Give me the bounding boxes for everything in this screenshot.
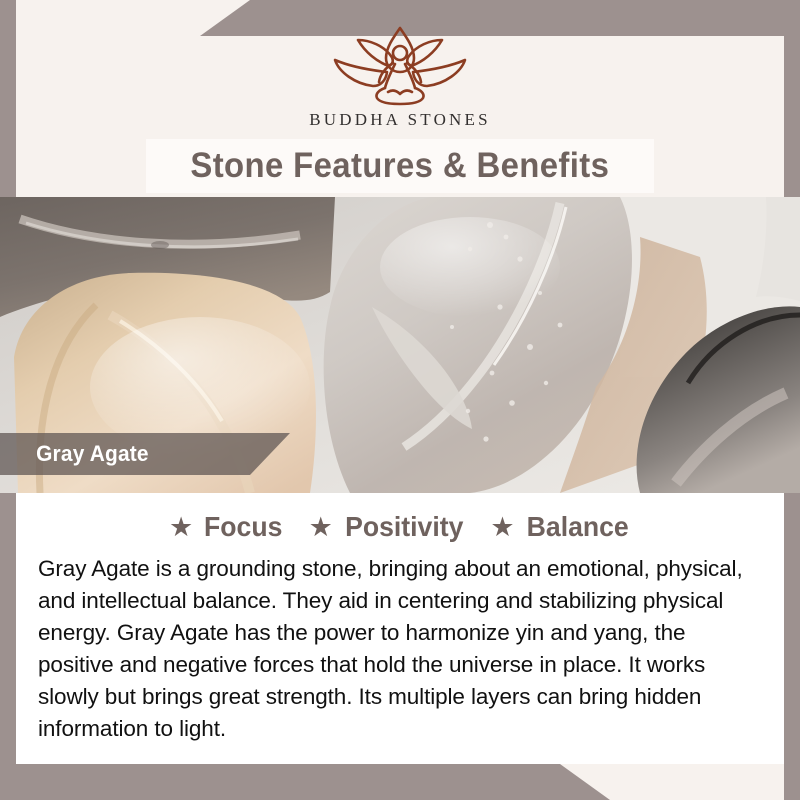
feature-list: ★ Focus ★ Positivity ★ Balance — [16, 493, 784, 543]
page-title: Stone Features & Benefits — [191, 146, 610, 186]
brand-logo: BUDDHA STONES — [16, 20, 784, 130]
brand-name: BUDDHA STONES — [309, 110, 491, 130]
stone-caption-text: Gray Agate — [4, 441, 149, 467]
decorative-band-bottom — [0, 764, 800, 800]
star-icon: ★ — [309, 514, 333, 541]
stone-caption-banner: Gray Agate — [0, 433, 290, 475]
stone-description: Gray Agate is a grounding stone, bringin… — [38, 553, 762, 745]
star-icon: ★ — [169, 514, 193, 541]
feature-item-positivity: ★ Positivity — [309, 511, 467, 543]
title-banner: Stone Features & Benefits — [146, 139, 654, 193]
feature-label-balance: Balance — [526, 511, 628, 543]
lotus-meditation-icon — [325, 20, 475, 108]
star-icon: ★ — [490, 514, 514, 541]
feature-label-positivity: Positivity — [345, 511, 463, 543]
stone-photo: Gray Agate — [0, 197, 800, 493]
stone-info-poster: BUDDHA STONES Stone Features & Benefits — [0, 0, 800, 800]
feature-label-focus: Focus — [204, 511, 282, 543]
content-panel: ★ Focus ★ Positivity ★ Balance Gray Agat… — [16, 493, 784, 764]
feature-item-focus: ★ Focus — [169, 511, 285, 543]
feature-item-balance: ★ Balance — [490, 511, 631, 543]
